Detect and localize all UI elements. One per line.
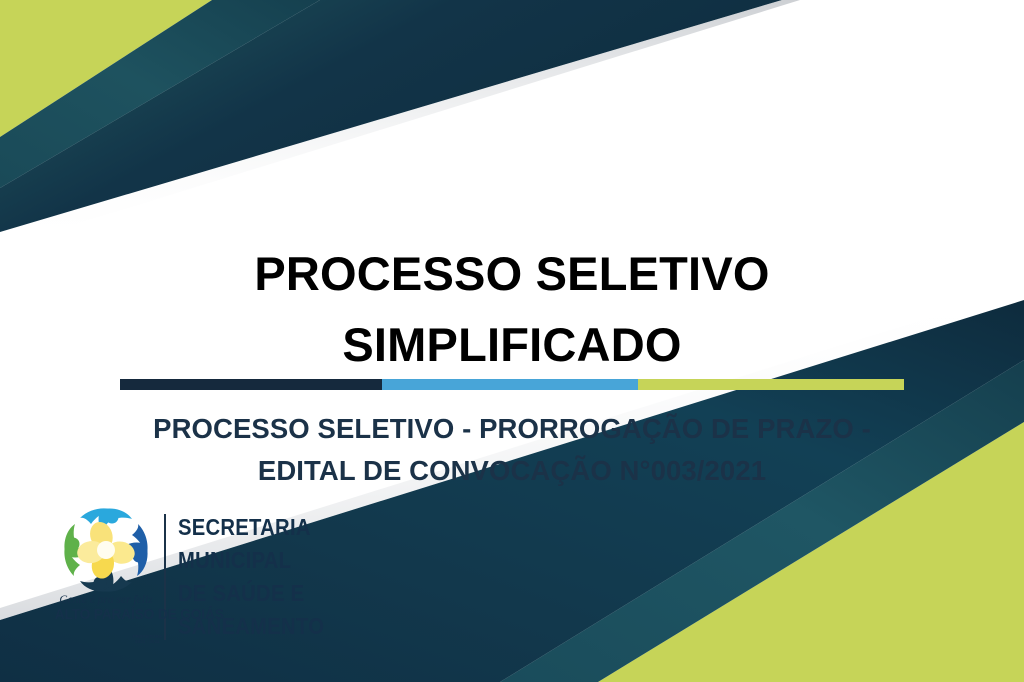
- alto-paraiso-emblem-icon: Gente é pra ser feliz ALTO PARAÍSO DE GO…: [52, 506, 160, 648]
- divider-segment-green: [638, 379, 904, 390]
- emblem-city-name: ALTO PARAÍSO DE GOIÁS: [55, 608, 158, 623]
- subtitle-block: PROCESSO SELETIVO - PRORROGAÇÃO DE PRAZO…: [0, 408, 1024, 492]
- slide-canvas: PROCESSO SELETIVO SIMPLIFICADO PROCESSO …: [0, 0, 1024, 682]
- logo-word-line-4: SANEAMENTO: [178, 610, 324, 643]
- title-block: PROCESSO SELETIVO SIMPLIFICADO: [0, 238, 1024, 381]
- logo-lockup: Gente é pra ser feliz ALTO PARAÍSO DE GO…: [52, 506, 344, 648]
- emblem-motto: Gente é pra ser feliz: [52, 594, 160, 606]
- logo-word-line-3: DE SAÚDE E: [178, 577, 324, 610]
- logo-word-line-2: MUNICIPAL: [178, 544, 324, 577]
- logo-wordmark: SECRETARIA MUNICIPAL DE SAÚDE E SANEAMEN…: [178, 511, 344, 643]
- divider-segment-blue: [382, 379, 638, 390]
- logo-word-line-1: SECRETARIA: [178, 511, 324, 544]
- emblem-gov-line2: 2021 - 2024: [133, 639, 162, 644]
- divider-segment-navy: [120, 379, 382, 390]
- tricolor-divider: [120, 379, 904, 390]
- page-subtitle: PROCESSO SELETIVO - PRORROGAÇÃO DE PRAZO…: [0, 408, 1024, 492]
- emblem-city-line1: ALTO PARAÍSO: [55, 607, 155, 623]
- emblem-government-mark: PREFEITURA 2021 - 2024: [133, 634, 162, 645]
- page-title: PROCESSO SELETIVO SIMPLIFICADO: [0, 238, 1024, 381]
